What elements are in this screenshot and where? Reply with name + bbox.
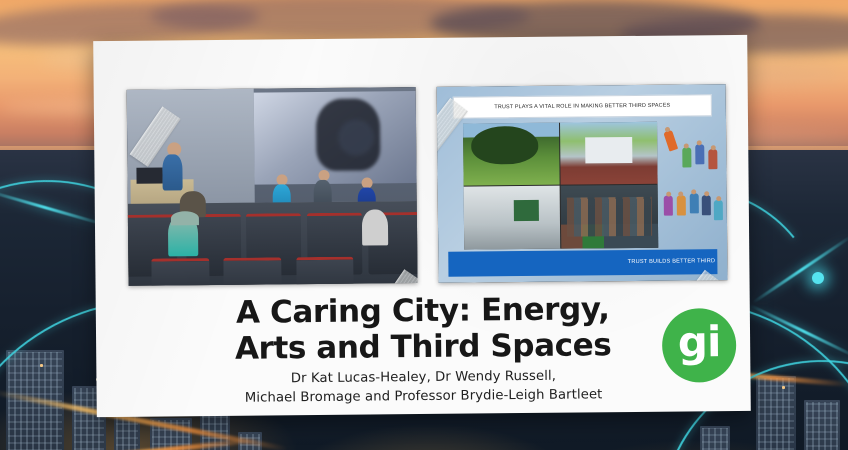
- slide-footer-text: TRUST BUILDS BETTER THIRD: [628, 259, 718, 266]
- slide-footer-bar: TRUST BUILDS BETTER THIRD: [448, 249, 717, 277]
- presenter-names: Dr Kat Lucas-Healey, Dr Wendy Russell, M…: [96, 365, 750, 409]
- poster-card: TRUST PLAYS A VITAL ROLE IN MAKING BETTE…: [93, 35, 751, 417]
- screenshot-stage: TRUST PLAYS A VITAL ROLE IN MAKING BETTE…: [0, 0, 848, 450]
- slide-headline: TRUST PLAYS A VITAL ROLE IN MAKING BETTE…: [453, 94, 712, 119]
- slide-tile-hall: [560, 122, 657, 185]
- gi-logo-text: gi: [678, 321, 721, 363]
- gi-logo: gi: [662, 308, 737, 383]
- slide-tile-park: [463, 123, 560, 186]
- presentation-slide-photo: TRUST PLAYS A VITAL ROLE IN MAKING BETTE…: [437, 84, 728, 283]
- panel-discussion-photo: [127, 87, 418, 286]
- page-title: A Caring City: Energy, Arts and Third Sp…: [96, 291, 751, 369]
- illustrated-people-figures: [661, 127, 723, 249]
- slide-tile-office: [464, 186, 561, 249]
- slide-image-grid: [463, 122, 658, 249]
- slide-tile-people: [561, 185, 658, 248]
- page-title-line-2: Arts and Third Spaces: [96, 327, 750, 369]
- slide-headline-text: TRUST PLAYS A VITAL ROLE IN MAKING BETTE…: [494, 103, 670, 111]
